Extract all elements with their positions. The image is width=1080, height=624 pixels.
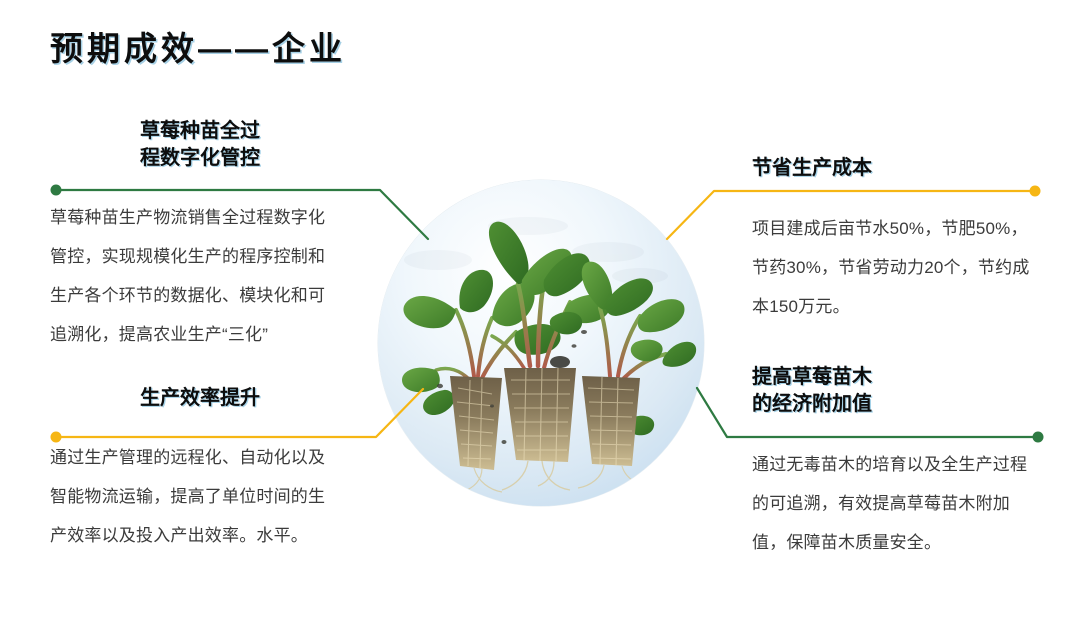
info-block-right-bottom-body: 通过无毒苗木的培育以及全生产过程的可追溯，有效提高草莓苗木附加值，保障苗木质量安… <box>752 445 1040 562</box>
info-block-right-top: 节省生产成本 项目建成后亩节水50%，节肥50%，节药30%，节省劳动力20个，… <box>752 155 1044 326</box>
info-block-left-top-body: 草莓种苗生产物流销售全过程数字化管控，实现规模化生产的程序控制和生产各个环节的数… <box>50 198 342 354</box>
info-block-left-bottom-heading: 生产效率提升 <box>50 385 350 412</box>
info-block-left-top: 草莓种苗全过 程数字化管控 草莓种苗生产物流销售全过程数字化管控，实现规模化生产… <box>50 118 350 354</box>
info-block-left-top-heading: 草莓种苗全过 程数字化管控 <box>50 118 350 172</box>
page-title: 预期成效——企业 <box>50 22 346 70</box>
info-block-right-top-heading: 节省生产成本 <box>752 155 1044 182</box>
slide-canvas: 预期成效——企业 <box>0 0 1080 624</box>
strawberry-seedlings-photo <box>378 180 704 506</box>
info-block-left-bottom-body: 通过生产管理的远程化、自动化以及智能物流运输，提高了单位时间的生产效率以及投入产… <box>50 438 342 555</box>
info-block-right-top-body: 项目建成后亩节水50%，节肥50%，节药30%，节省劳动力20个，节约成本150… <box>752 209 1038 326</box>
info-block-right-bottom-heading: 提高草莓苗木 的经济附加值 <box>752 364 1044 418</box>
info-block-right-bottom: 提高草莓苗木 的经济附加值 通过无毒苗木的培育以及全生产过程的可追溯，有效提高草… <box>752 364 1044 562</box>
info-block-left-bottom: 生产效率提升 通过生产管理的远程化、自动化以及智能物流运输，提高了单位时间的生产… <box>50 385 350 555</box>
